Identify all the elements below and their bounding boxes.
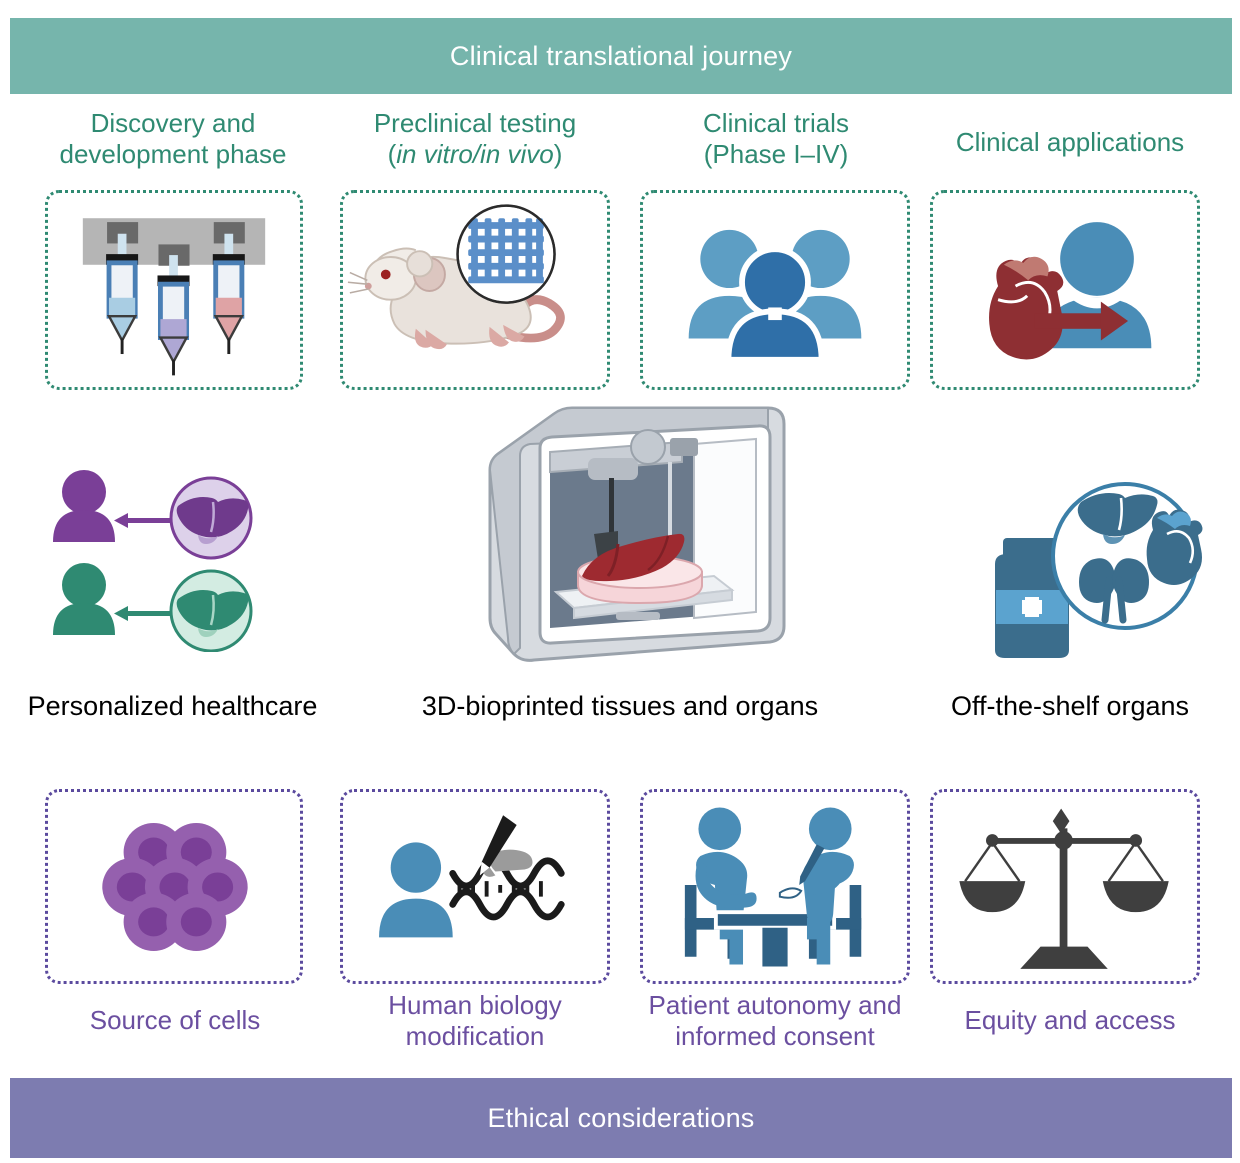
- ethics-label-patient-autonomy: Patient autonomy and informed consent: [630, 990, 920, 1052]
- paren-open: (: [388, 139, 397, 169]
- teal-arrow: [114, 606, 170, 621]
- stage-title-line1: Clinical trials: [703, 108, 849, 138]
- cell-cluster-icon: [48, 792, 300, 981]
- ethics-label-line2: informed consent: [675, 1021, 874, 1051]
- outcome-label-bioprinted: 3D-bioprinted tissues and organs: [350, 690, 890, 722]
- bottom-banner-label: Ethical considerations: [487, 1103, 754, 1134]
- hand-with-pen: [480, 815, 533, 877]
- clinical-translation-figure: Clinical translational journey Discovery…: [0, 0, 1240, 1163]
- heart-shape: [989, 257, 1063, 360]
- patient-liver-match-icon: [48, 462, 278, 652]
- person-shape: [379, 842, 453, 937]
- stage-title-line1: Preclinical testing: [374, 108, 576, 138]
- panel-equity-and-access: [930, 789, 1200, 984]
- bioprinting-nozzles-icon: [48, 193, 300, 387]
- organ-circle: [1053, 484, 1202, 628]
- informed-consent-icon: [643, 792, 907, 981]
- panel-clinical-trials: [640, 190, 910, 390]
- outcome-label-personalized: Personalized healthcare: [0, 690, 345, 722]
- panel-informed-consent: [640, 789, 910, 984]
- stage-title-preclinical: Preclinical testing (in vitro/in vivo): [330, 108, 620, 170]
- stage-title-trials: Clinical trials (Phase I–IV): [636, 108, 916, 170]
- teal-liver-circle: [171, 571, 251, 651]
- stage-title-line1: Clinical applications: [956, 127, 1184, 157]
- stage-title-applications: Clinical applications: [920, 127, 1220, 158]
- stage-title-line1: Discovery and: [91, 108, 256, 138]
- ethics-label-line1: Patient autonomy and: [649, 990, 902, 1020]
- organ-bottle-icon: [985, 468, 1205, 663]
- panel-source-of-cells: [45, 789, 303, 984]
- heart-transplant-patient-icon: [933, 193, 1197, 387]
- panel-discovery: [45, 190, 303, 390]
- balance-scales-icon: [933, 792, 1197, 981]
- lab-mouse-scaffold-icon: [343, 193, 607, 387]
- teal-patient: [53, 563, 115, 635]
- left-person: [696, 808, 757, 965]
- outcome-label-offtheshelf: Off-the-shelf organs: [900, 690, 1240, 722]
- invitro-invivo-italic: in vitro/in vivo: [396, 139, 554, 169]
- top-banner: Clinical translational journey: [10, 18, 1232, 94]
- ethics-label-source-of-cells: Source of cells: [30, 1005, 320, 1036]
- purple-patient: [53, 470, 115, 542]
- top-banner-label: Clinical translational journey: [450, 41, 792, 72]
- patient-group-icon: [643, 193, 907, 387]
- purple-liver-circle: [171, 478, 251, 558]
- ethics-label-line2: modification: [406, 1021, 545, 1051]
- panel-preclinical: [340, 190, 610, 390]
- stage-title-discovery: Discovery and development phase: [38, 108, 308, 170]
- stage-title-line2: development phase: [60, 139, 287, 169]
- panel-human-biology-modification: [340, 789, 610, 984]
- stage-title-line2: (Phase I–IV): [704, 139, 849, 169]
- panel-clinical-applications: [930, 190, 1200, 390]
- ethics-label-equity: Equity and access: [920, 1005, 1220, 1036]
- ethics-label-line1: Human biology: [388, 990, 561, 1020]
- paren-close: ): [554, 139, 563, 169]
- bottom-banner: Ethical considerations: [10, 1078, 1232, 1158]
- dna-editing-icon: [343, 792, 607, 981]
- journey-headings: Discovery and development phase Preclini…: [0, 108, 1240, 178]
- ethics-label-line1: Equity and access: [964, 1005, 1175, 1035]
- ethics-label-human-biology: Human biology modification: [335, 990, 615, 1052]
- bioprinter-icon: [468, 400, 808, 675]
- purple-arrow: [114, 513, 170, 528]
- ethics-label-line1: Source of cells: [90, 1005, 261, 1035]
- stage-title-line2: (in vitro/in vivo): [388, 139, 563, 169]
